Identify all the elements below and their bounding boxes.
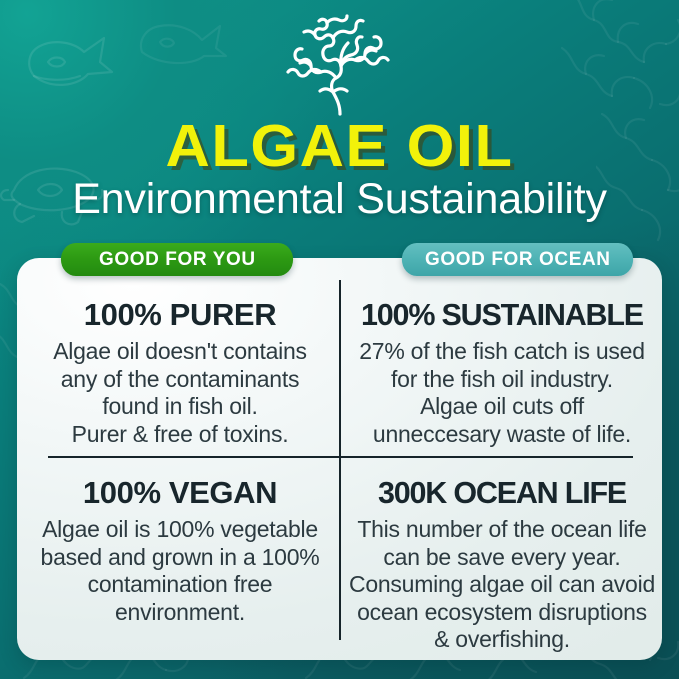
infographic-poster: ALGAE OIL Environmental Sustainability 1… — [0, 0, 679, 679]
benefits-card: 100% PURER Algae oil doesn't contains an… — [17, 258, 662, 660]
benefit-line: unneccesary waste of life. — [359, 421, 645, 449]
benefit-line: Purer & free of toxins. — [53, 421, 307, 449]
badge-good-for-ocean: GOOD FOR OCEAN — [402, 243, 633, 276]
benefit-line: This number of the ocean life — [349, 516, 655, 544]
benefit-heading: 300K OCEAN LIFE — [378, 476, 626, 510]
benefit-line: can be save every year. — [349, 544, 655, 572]
vertical-divider — [339, 280, 341, 640]
benefit-heading: 100% SUSTAINABLE — [361, 298, 643, 332]
benefit-body: 27% of the fish catch is used for the fi… — [359, 338, 645, 448]
benefit-line: Algae oil is 100% vegetable — [41, 516, 320, 544]
benefit-body: This number of the ocean life can be sav… — [349, 516, 655, 654]
benefit-heading: 100% PURER — [84, 298, 276, 332]
coral-seaweed-icon — [278, 8, 402, 120]
benefit-line: & overfishing. — [349, 626, 655, 654]
benefit-body: Algae oil is 100% vegetable based and gr… — [41, 516, 320, 626]
benefit-line: Consuming algae oil can avoid — [349, 571, 655, 599]
badge-good-for-you: GOOD FOR YOU — [61, 243, 293, 276]
benefit-line: found in fish oil. — [53, 393, 307, 421]
benefit-line: any of the contaminants — [53, 366, 307, 394]
benefit-line: for the fish oil industry. — [359, 366, 645, 394]
benefit-line: based and grown in a 100% — [41, 544, 320, 572]
coral-outline-icon — [560, 0, 679, 136]
benefit-line: 27% of the fish catch is used — [359, 338, 645, 366]
benefit-purer: 100% PURER Algae oil doesn't contains an… — [21, 298, 339, 448]
badge-label: GOOD FOR OCEAN — [425, 249, 611, 271]
fish-outline-icon — [8, 18, 118, 104]
fish-outline-icon — [130, 8, 230, 78]
benefit-sustainable: 100% SUSTAINABLE 27% of the fish catch i… — [343, 298, 661, 448]
page-subtitle: Environmental Sustainability — [0, 176, 679, 222]
benefit-line: environment. — [41, 599, 320, 627]
benefit-body: Algae oil doesn't contains any of the co… — [53, 338, 307, 448]
benefit-heading: 100% VEGAN — [83, 476, 277, 510]
benefit-line: ocean ecosystem disruptions — [349, 599, 655, 627]
benefit-line: Algae oil cuts off — [359, 393, 645, 421]
benefit-ocean-life: 300K OCEAN LIFE This number of the ocean… — [343, 476, 661, 654]
badge-label: GOOD FOR YOU — [99, 249, 256, 271]
benefit-line: contamination free — [41, 571, 320, 599]
benefit-vegan: 100% VEGAN Algae oil is 100% vegetable b… — [21, 476, 339, 626]
benefit-line: Algae oil doesn't contains — [53, 338, 307, 366]
page-title: ALGAE OIL — [0, 117, 679, 176]
